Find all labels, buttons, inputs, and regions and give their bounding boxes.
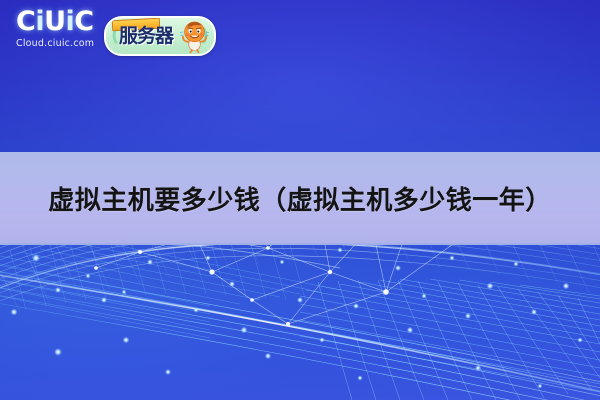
logo-subtitle: Cloud.ciuic.com (16, 38, 112, 49)
logo-letter-i2: i (66, 6, 75, 37)
logo-letter-c1: C (16, 6, 35, 37)
logo-letter-c2: C (74, 6, 93, 37)
banner-image: 虚拟主机要多少钱（虚拟主机多少钱一年） CiUiC Cloud.ciuic.co… (0, 0, 600, 400)
logo-letter-u: U (44, 6, 65, 37)
orange-mascot-icon (178, 19, 211, 53)
brand-logo[interactable]: CiUiC Cloud.ciuic.com (16, 8, 112, 49)
logo-letter-i1: i (35, 6, 44, 37)
logo-wordmark: CiUiC (16, 8, 112, 36)
server-badge[interactable]: ( ) 服务器 (104, 16, 216, 56)
badge-label: 服务器 (119, 25, 173, 47)
page-title: 虚拟主机要多少钱（虚拟主机多少钱一年） (0, 152, 600, 245)
